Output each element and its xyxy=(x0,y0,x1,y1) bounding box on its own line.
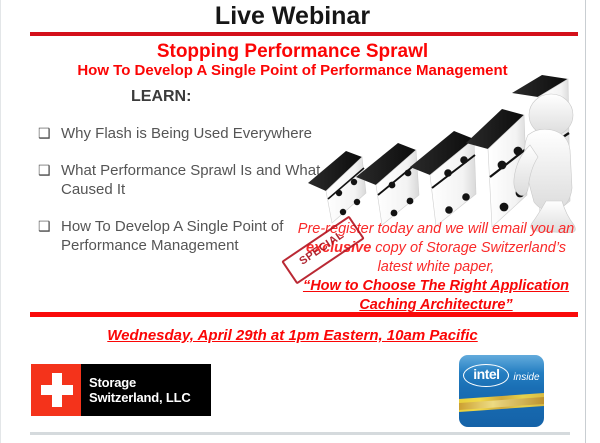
storage-switzerland-name: Storage Switzerland, LLC xyxy=(81,364,211,416)
storage-switzerland-logo: Storage Switzerland, LLC xyxy=(31,364,211,416)
top-red-divider xyxy=(30,32,578,36)
intel-inside-label: inside xyxy=(513,372,539,383)
page-title: Live Webinar xyxy=(0,2,585,31)
falling-dominoes-illustration xyxy=(306,73,585,233)
list-item-label: Why Flash is Being Used Everywhere xyxy=(61,124,328,143)
bottom-red-divider xyxy=(30,312,578,317)
list-item-label: How To Develop A Single Point of Perform… xyxy=(61,217,328,255)
right-edge-rule xyxy=(585,0,586,443)
webinar-datetime: Wednesday, April 29th at 1pm Eastern, 10… xyxy=(0,327,585,344)
list-item: ❑ Why Flash is Being Used Everywhere xyxy=(38,124,328,143)
intel-inside-logo: intel inside xyxy=(459,355,544,427)
white-paper-title: “How to Choose The Right Application Cac… xyxy=(296,277,576,315)
bottom-gray-divider xyxy=(30,432,570,435)
promo-tail-text: copy of Storage Switzerland’s latest whi… xyxy=(371,240,566,275)
intel-wordmark: intel xyxy=(463,364,509,387)
list-item: ❑ What Performance Sprawl Is and What Ca… xyxy=(38,161,328,199)
webinar-title: Stopping Performance Sprawl xyxy=(0,41,585,63)
webinar-promo-poster: Live Webinar Stopping Performance Sprawl… xyxy=(0,0,600,443)
checkbox-bullet-icon: ❑ xyxy=(38,161,61,180)
checkbox-bullet-icon: ❑ xyxy=(38,124,61,143)
swiss-cross-horizontal xyxy=(41,385,73,395)
swiss-flag-icon xyxy=(31,364,81,416)
learning-objectives-list: ❑ Why Flash is Being Used Everywhere ❑ W… xyxy=(38,124,328,273)
list-item: ❑ How To Develop A Single Point of Perfo… xyxy=(38,217,328,255)
list-item-label: What Performance Sprawl Is and What Caus… xyxy=(61,161,328,199)
checkbox-bullet-icon: ❑ xyxy=(38,217,61,236)
learn-heading: LEARN: xyxy=(131,88,191,106)
intel-wordmark-row: intel inside xyxy=(459,355,544,395)
